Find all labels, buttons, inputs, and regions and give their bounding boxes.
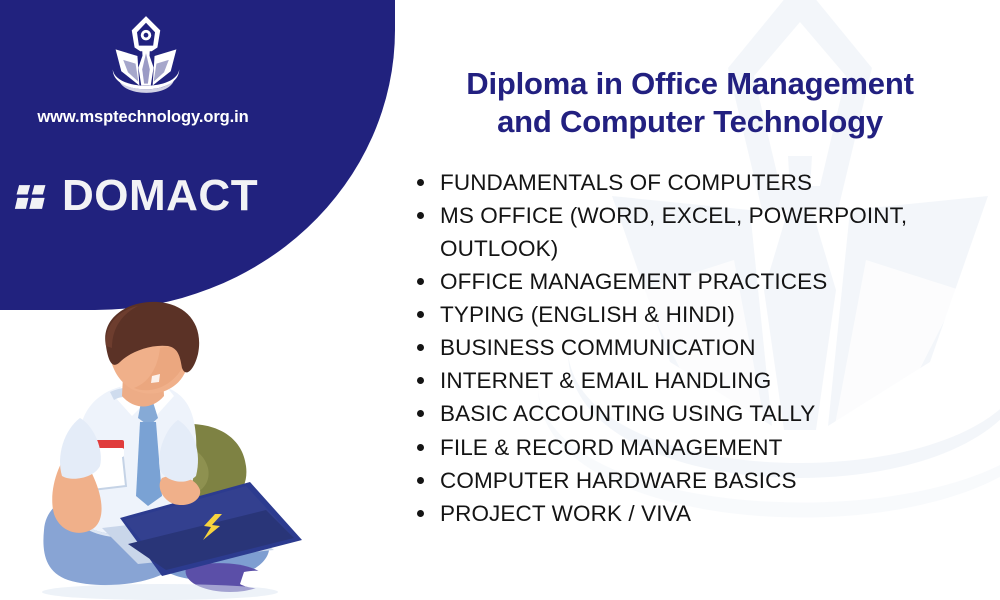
list-item: BASIC ACCOUNTING USING TALLY (408, 397, 1000, 430)
brand-website-url: www.msptechnology.org.in (0, 108, 286, 127)
brand-block: www.msptechnology.org.in DOMACT (0, 0, 340, 250)
bullet-icon (417, 344, 424, 351)
page-title-line-2: and Computer Technology (497, 104, 883, 139)
list-item: INTERNET & EMAIL HANDLING (408, 364, 1000, 397)
list-item: PROJECT WORK / VIVA (408, 497, 1000, 530)
bullet-icon (417, 510, 424, 517)
list-item: FILE & RECORD MANAGEMENT (408, 431, 1000, 464)
page-title: Diploma in Office Management and Compute… (400, 65, 980, 141)
list-item: COMPUTER HARDWARE BASICS (408, 464, 1000, 497)
course-content: Diploma in Office Management and Compute… (400, 0, 1000, 600)
list-item: BUSINESS COMMUNICATION (408, 331, 1000, 364)
brand-name-text: DOMACT (62, 174, 258, 218)
bullet-icon (417, 278, 424, 285)
domact-pinwheel-mark-icon (14, 180, 48, 214)
list-item-label: INTERNET & EMAIL HANDLING (440, 368, 771, 393)
bullet-icon (417, 477, 424, 484)
brand-wordmark: DOMACT (14, 174, 258, 218)
list-item: FUNDAMENTALS OF COMPUTERS (408, 166, 1000, 199)
list-item-label: BUSINESS COMMUNICATION (440, 335, 756, 360)
student-with-laptop-illustration (10, 300, 330, 600)
list-item: TYPING (ENGLISH & HINDI) (408, 298, 1000, 331)
bullet-icon (417, 212, 424, 219)
list-item: OFFICE MANAGEMENT PRACTICES (408, 265, 1000, 298)
course-list: FUNDAMENTALS OF COMPUTERS MS OFFICE (WOR… (408, 166, 1000, 530)
bullet-icon (417, 410, 424, 417)
list-item-label: OFFICE MANAGEMENT PRACTICES (440, 269, 827, 294)
bullet-icon (417, 311, 424, 318)
list-item: MS OFFICE (WORD, EXCEL, POWERPOINT, OUTL… (408, 199, 1000, 265)
list-item-label: BASIC ACCOUNTING USING TALLY (440, 401, 815, 426)
list-item-label: TYPING (ENGLISH & HINDI) (440, 302, 735, 327)
bullet-icon (417, 444, 424, 451)
list-item-label: PROJECT WORK / VIVA (440, 501, 691, 526)
course-poster: www.msptechnology.org.in DOMACT (0, 0, 1000, 600)
list-item-label: FUNDAMENTALS OF COMPUTERS (440, 170, 812, 195)
list-item-label: COMPUTER HARDWARE BASICS (440, 468, 797, 493)
page-title-line-1: Diploma in Office Management (466, 66, 913, 101)
bullet-icon (417, 377, 424, 384)
list-item-label: FILE & RECORD MANAGEMENT (440, 435, 782, 460)
pen-nib-lotus-logo (108, 14, 184, 100)
list-item-label: MS OFFICE (WORD, EXCEL, POWERPOINT, OUTL… (440, 203, 907, 261)
bullet-icon (417, 179, 424, 186)
